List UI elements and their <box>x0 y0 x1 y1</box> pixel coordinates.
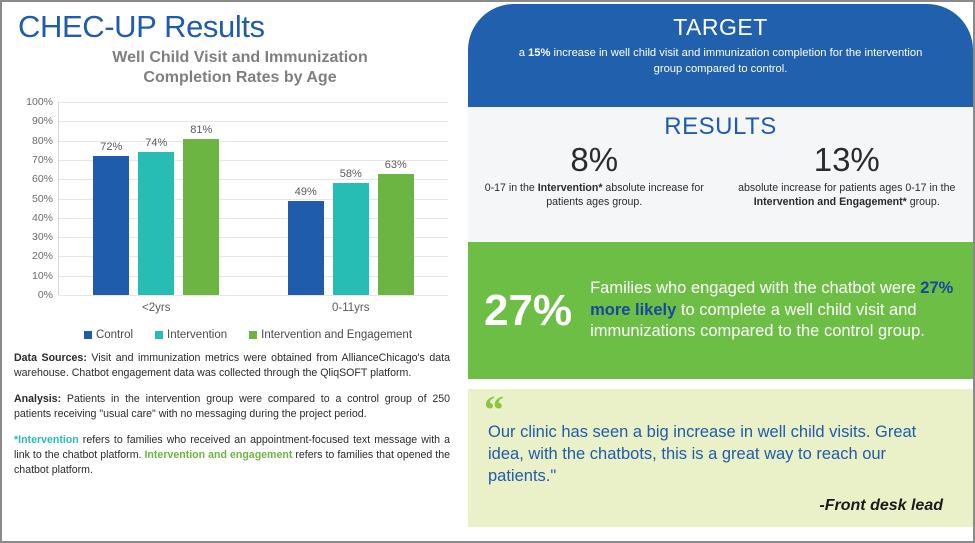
result-statistic: 13% <box>737 143 958 178</box>
chart-bar[interactable] <box>183 139 219 295</box>
bar-chart: 100%90%80%70%60%50%40%30%20%10%0% 72%74%… <box>12 98 454 323</box>
chart-y-tick-label: 30% <box>32 231 53 243</box>
note-analysis-label: Analysis: <box>14 393 61 405</box>
chart-y-tick-label: 100% <box>26 96 53 108</box>
chart-bar[interactable] <box>93 156 129 295</box>
result-item: 13%absolute increase for patients ages 0… <box>721 143 974 209</box>
legend-swatch-icon <box>249 331 257 339</box>
left-column: CHEC-UP Results Well Child Visit and Imm… <box>2 2 464 541</box>
quote-attribution: -Front desk lead <box>484 497 955 515</box>
right-column: TARGET a 15% increase in well child visi… <box>468 4 973 543</box>
chart-y-tick-label: 80% <box>32 135 53 147</box>
results-panel: RESULTS 8%0-17 in the Intervention* abso… <box>468 107 973 242</box>
legend-swatch-icon <box>155 331 163 339</box>
chart-y-tick-label: 40% <box>32 212 53 224</box>
legend-swatch-icon <box>84 331 92 339</box>
impact-statistic: 27% <box>478 289 590 333</box>
chart-y-tick-label: 90% <box>32 115 53 127</box>
legend-item[interactable]: Control <box>84 329 133 341</box>
chart-bar-wrapper: 81% <box>183 102 219 295</box>
result-description: absolute increase for patients ages 0-17… <box>737 181 958 210</box>
legend-item[interactable]: Intervention and Engagement <box>249 329 412 341</box>
chart-y-tick-label: 60% <box>32 173 53 185</box>
target-description: a 15% increase in well child visit and i… <box>502 46 939 77</box>
result-statistic: 8% <box>484 143 705 178</box>
result-description-term: Intervention and Engagement* <box>754 196 907 208</box>
target-text-post: increase in well child visit and immuniz… <box>550 47 922 75</box>
chart-y-tick-label: 10% <box>32 270 53 282</box>
chart-bar-wrapper: 49% <box>288 102 324 295</box>
result-item: 8%0-17 in the Intervention* absolute inc… <box>468 143 721 209</box>
target-text-value: 15% <box>528 47 550 59</box>
chart-category-label: 0-11yrs <box>332 302 370 314</box>
result-description-part1: 0-17 in the <box>485 182 538 194</box>
quote-mark-icon: “ <box>484 395 955 421</box>
impact-description: Families who engaged with the chatbot we… <box>590 278 957 342</box>
note-footnote: *Intervention refers to families who rec… <box>14 433 450 478</box>
result-description-term: Intervention* <box>538 182 603 194</box>
legend-item[interactable]: Intervention <box>155 329 227 341</box>
chart-bar-group: 72%74%81%<2yrs <box>71 102 242 295</box>
result-description-part2: group. <box>907 196 940 208</box>
results-heading: RESULTS <box>468 113 973 141</box>
chart-y-tick-label: 0% <box>38 289 53 301</box>
legend-label: Intervention and Engagement <box>261 329 412 341</box>
quote-panel: “ Our clinic has seen a big increase in … <box>468 389 973 527</box>
chart-bar-wrapper: 63% <box>378 102 414 295</box>
chart-bar-group: 49%58%63%0-11yrs <box>265 102 436 295</box>
chart-bar[interactable] <box>138 152 174 295</box>
impact-text-part1: Families who engaged with the chatbot we… <box>590 279 920 297</box>
quote-text: Our clinic has seen a big increase in we… <box>484 421 955 487</box>
chart-bar-wrapper: 72% <box>93 102 129 295</box>
subtitle-line-1: Well Child Visit and Immunization <box>52 48 428 68</box>
chart-y-tick-label: 70% <box>32 154 53 166</box>
note-data-sources: Data Sources: Visit and immunization met… <box>14 351 450 381</box>
chart-bar[interactable] <box>378 174 414 296</box>
chart-bar-value-label: 63% <box>385 159 407 171</box>
result-description-part1: absolute increase for patients ages 0-17… <box>738 182 955 194</box>
chart-bar-wrapper: 74% <box>138 102 174 295</box>
subtitle-line-2: Completion Rates by Age <box>52 68 428 88</box>
page-title: CHEC-UP Results <box>12 10 454 44</box>
chart-bar-value-label: 74% <box>145 137 167 149</box>
notes-section: Data Sources: Visit and immunization met… <box>12 351 454 478</box>
chart-y-tick-label: 50% <box>32 193 53 205</box>
chart-y-tick-label: 20% <box>32 250 53 262</box>
note-analysis-text: Patients in the intervention group were … <box>14 393 450 420</box>
footnote-intervention-term: Intervention <box>18 434 79 446</box>
infographic-page: CHEC-UP Results Well Child Visit and Imm… <box>0 0 975 543</box>
chart-bar-wrapper: 58% <box>333 102 369 295</box>
legend-label: Intervention <box>167 329 227 341</box>
chart-bar-value-label: 81% <box>190 124 212 136</box>
chart-bars-layer: 72%74%81%<2yrs49%58%63%0-11yrs <box>59 102 448 295</box>
chart-category-label: <2yrs <box>142 302 170 314</box>
chart-bar-value-label: 49% <box>295 186 317 198</box>
note-analysis: Analysis: Patients in the intervention g… <box>14 392 450 422</box>
result-description: 0-17 in the Intervention* absolute incre… <box>484 181 705 210</box>
chart-gridline: 0% <box>59 295 448 296</box>
target-panel: TARGET a 15% increase in well child visi… <box>468 4 973 107</box>
chart-plot-area: 100%90%80%70%60%50%40%30%20%10%0% 72%74%… <box>58 102 448 295</box>
impact-panel: 27% Families who engaged with the chatbo… <box>468 242 973 379</box>
chart-bar-value-label: 72% <box>100 141 122 153</box>
chart-legend: ControlInterventionIntervention and Enga… <box>12 329 454 341</box>
chart-bar[interactable] <box>333 183 369 295</box>
note-data-sources-label: Data Sources: <box>14 352 87 364</box>
target-text-pre: a <box>519 47 528 59</box>
chart-bar[interactable] <box>288 201 324 296</box>
page-subtitle: Well Child Visit and Immunization Comple… <box>12 44 454 88</box>
results-columns: 8%0-17 in the Intervention* absolute inc… <box>468 143 973 209</box>
legend-label: Control <box>96 329 133 341</box>
footnote-engagement-term: Intervention and engagement <box>144 449 292 461</box>
chart-bar-value-label: 58% <box>340 168 362 180</box>
target-heading: TARGET <box>502 13 939 43</box>
